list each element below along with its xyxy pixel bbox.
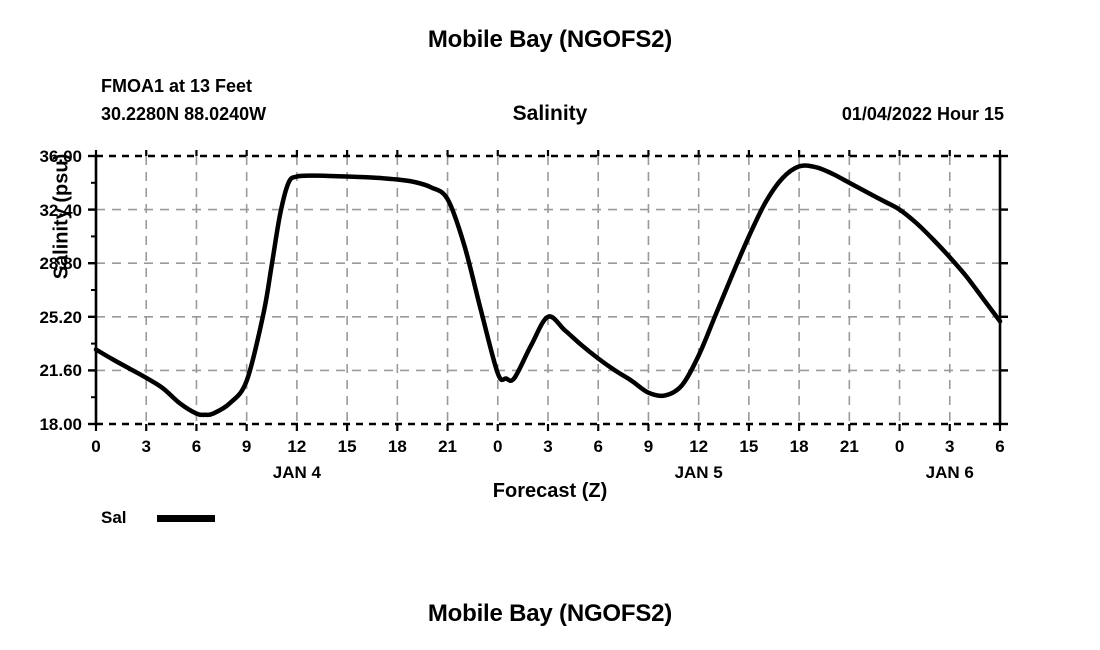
x-tick-label: 21 [829,438,869,455]
legend-swatch-sal [157,515,215,522]
legend: Sal [101,508,215,528]
x-tick-label: 15 [729,438,769,455]
legend-label-sal: Sal [101,508,153,528]
x-tick-label: 18 [779,438,819,455]
day-label: JAN 5 [639,464,759,481]
x-tick-label: 3 [930,438,970,455]
x-tick-label: 3 [126,438,166,455]
y-tick-label: 28.80 [2,255,82,272]
x-tick-label: 0 [880,438,920,455]
x-tick-label: 6 [980,438,1020,455]
x-tick-label: 9 [628,438,668,455]
chart-svg [0,0,1100,650]
x-tick-label: 6 [176,438,216,455]
x-tick-label: 21 [428,438,468,455]
y-tick-label: 32.40 [2,202,82,219]
gridlines [96,156,1000,424]
chart-page: Mobile Bay (NGOFS2) FMOA1 at 13 Feet 30.… [0,0,1100,650]
day-label: JAN 4 [237,464,357,481]
y-tick-label: 36.00 [2,148,82,165]
day-label: JAN 6 [890,464,1010,481]
y-tick-label: 18.00 [2,416,82,433]
x-tick-label: 0 [478,438,518,455]
page-title-bottom: Mobile Bay (NGOFS2) [0,600,1100,628]
x-tick-label: 12 [679,438,719,455]
x-tick-label: 0 [76,438,116,455]
x-tick-label: 9 [227,438,267,455]
plot-area: 18.0021.6025.2028.8032.4036.00 036912151… [0,0,1100,650]
x-tick-label: 18 [377,438,417,455]
y-tick-label: 25.20 [2,309,82,326]
x-tick-label: 12 [277,438,317,455]
x-tick-label: 6 [578,438,618,455]
y-tick-label: 21.60 [2,362,82,379]
x-tick-label: 15 [327,438,367,455]
x-tick-label: 3 [528,438,568,455]
